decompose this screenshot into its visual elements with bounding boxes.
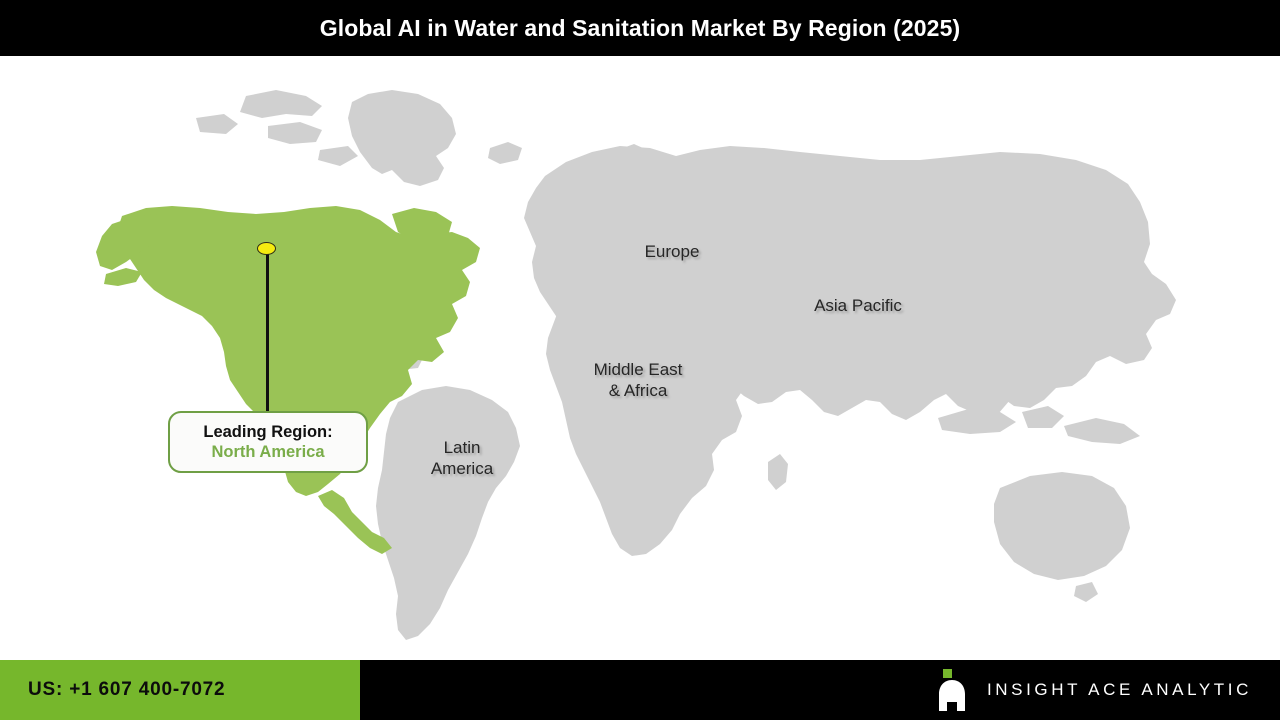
leading-region-marker-icon	[257, 242, 276, 255]
world-map-svg	[0, 56, 1280, 660]
indonesia-2-shape	[1022, 406, 1064, 428]
brand-name: INSIGHT ACE ANALYTIC	[987, 680, 1252, 700]
footer-bar: US: +1 607 400-7072 INSIGHT ACE ANALYTIC	[0, 660, 1280, 720]
footer-phone-panel: US: +1 607 400-7072	[0, 660, 360, 720]
world-map-container: Europe Asia Pacific Middle East & Africa…	[0, 56, 1280, 660]
aleutians-highlight-shape	[104, 268, 142, 286]
tasmania-shape	[1074, 582, 1098, 602]
greenland-shape	[348, 90, 456, 186]
australia-shape	[994, 472, 1130, 580]
brand-lockup: INSIGHT ACE ANALYTIC	[935, 660, 1252, 720]
callout-title: Leading Region:	[203, 423, 332, 442]
arctic-islands-3-shape	[196, 114, 238, 134]
arctic-islands-4-shape	[318, 146, 358, 166]
arctic-islands-2-shape	[268, 122, 322, 144]
madagascar-shape	[768, 454, 788, 490]
header-bar: Global AI in Water and Sanitation Market…	[0, 0, 1280, 56]
footer-phone-number[interactable]: US: +1 607 400-7072	[28, 679, 225, 701]
new-guinea-shape	[1064, 418, 1140, 444]
callout-region-name: North America	[211, 443, 324, 462]
leading-region-callout: Leading Region: North America	[168, 411, 368, 473]
iceland-shape	[488, 142, 522, 164]
arctic-islands-shape	[240, 90, 322, 118]
insight-ace-logo-icon	[935, 669, 969, 711]
page-title: Global AI in Water and Sanitation Market…	[320, 15, 960, 42]
south-america-shape	[376, 386, 520, 640]
